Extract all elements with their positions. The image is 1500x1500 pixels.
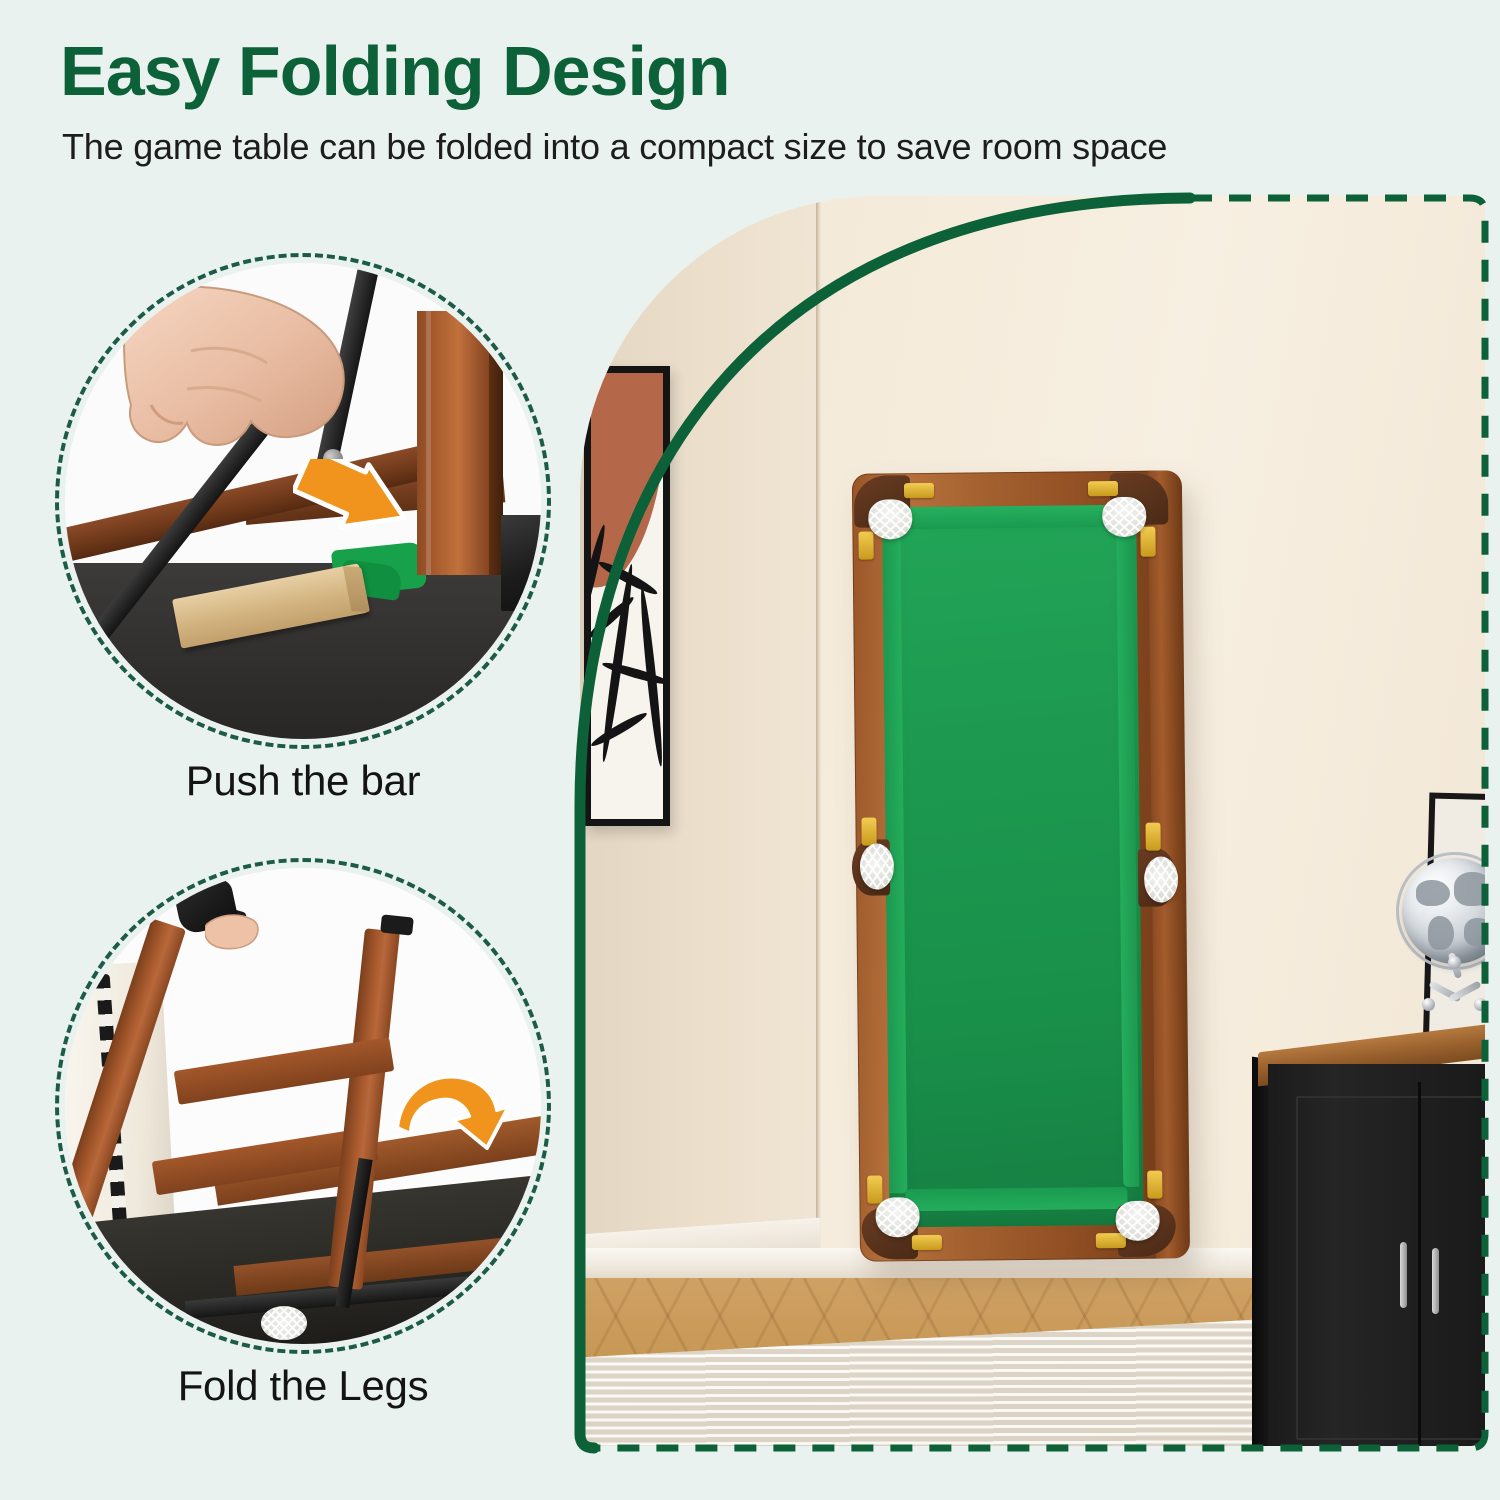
brass-fitting	[1140, 527, 1155, 557]
table-cushion-bottom	[905, 1187, 1127, 1211]
wooden-leg-post	[417, 311, 503, 575]
net-pocket	[261, 1306, 307, 1340]
step-2-caption: Fold the Legs	[55, 1362, 551, 1410]
brass-fitting	[904, 483, 934, 498]
cabinet-handle	[1432, 1248, 1439, 1314]
corner-net-pocket	[875, 1197, 919, 1237]
side-net-pocket	[1144, 856, 1178, 902]
header: Easy Folding Design The game table can b…	[0, 0, 1500, 190]
push-direction-arrow-icon	[293, 459, 413, 539]
wall-corner-shadow	[816, 196, 821, 1316]
brass-fitting	[861, 818, 876, 846]
table-cushion-top	[896, 505, 1124, 529]
folded-pool-table	[852, 470, 1190, 1273]
cabinet-handle	[1400, 1242, 1407, 1308]
table-felt-surface	[882, 505, 1144, 1228]
globe-continent	[1416, 880, 1450, 906]
stand-foot	[1422, 998, 1435, 1011]
step-1-photo-inset	[55, 253, 551, 749]
globe-continent	[1428, 916, 1454, 950]
cabinet-door-panel	[1296, 1096, 1485, 1440]
art-line	[589, 710, 649, 750]
brass-fitting	[912, 1235, 942, 1250]
step-2-photo-inset	[55, 858, 551, 1354]
globe-stand	[1426, 958, 1484, 1012]
stand-foot	[1448, 956, 1461, 969]
fold-direction-arrow-icon	[391, 1064, 511, 1164]
globe-continent	[1464, 918, 1485, 946]
page-subtitle: The game table can be folded into a comp…	[62, 126, 1167, 168]
push-the-bar-photo	[65, 263, 541, 739]
step-1-caption: Push the bar	[55, 757, 551, 805]
stand-foot	[1474, 998, 1485, 1011]
page-title: Easy Folding Design	[60, 36, 729, 106]
side-net-pocket	[860, 843, 894, 889]
brass-fitting	[858, 532, 873, 560]
main-room-photo	[580, 196, 1485, 1446]
brass-fitting	[1145, 823, 1160, 851]
brass-fitting	[1088, 481, 1118, 496]
globe-continent	[1454, 872, 1485, 906]
fold-the-legs-photo	[65, 868, 541, 1344]
corner-net-pocket	[1102, 497, 1146, 537]
leg-cap-right	[380, 914, 414, 935]
brass-fitting	[867, 1175, 882, 1203]
metal-bracket-box	[501, 515, 541, 611]
cabinet-door-seam	[1418, 1082, 1421, 1446]
hand-illustration	[205, 912, 261, 952]
brass-fitting	[1147, 1171, 1162, 1199]
wall-art-frame	[584, 366, 670, 826]
